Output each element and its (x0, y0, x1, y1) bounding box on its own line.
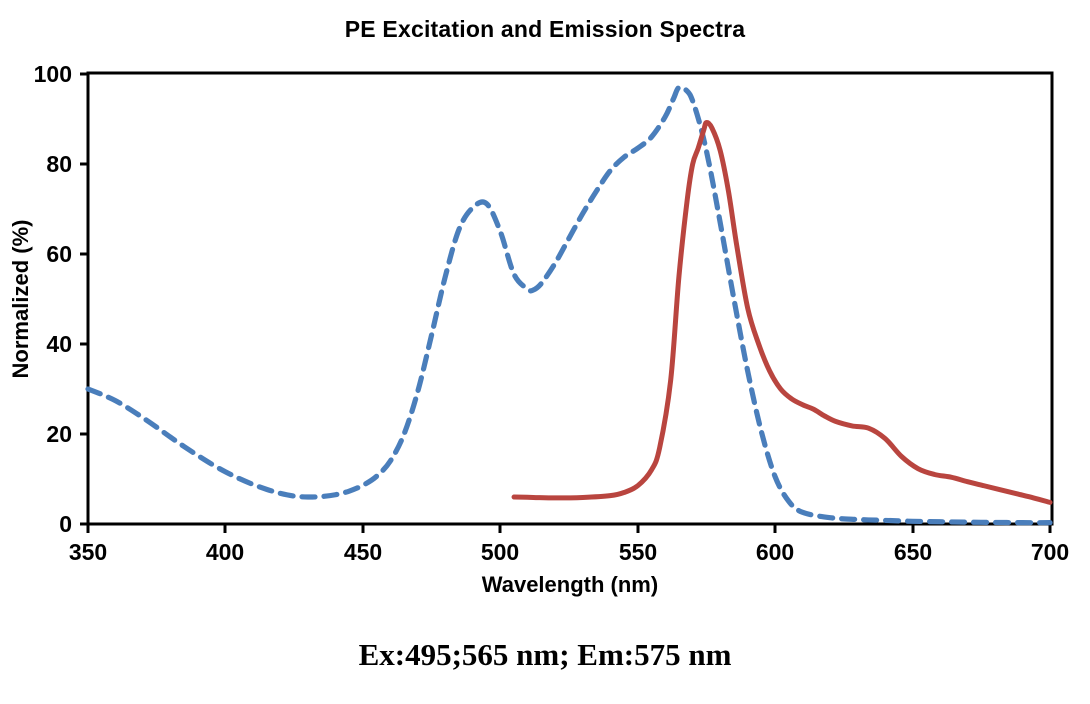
figure-caption: Ex:495;565 nm; Em:575 nm (0, 637, 1090, 673)
y-tick-label: 80 (46, 151, 72, 177)
x-tick-label: 650 (894, 539, 932, 565)
x-axis-title: Wavelength (nm) (482, 572, 658, 597)
y-tick-label: 100 (34, 61, 72, 87)
figure-container: PE Excitation and Emission Spectra 0 20 … (0, 0, 1090, 704)
x-tick-label: 550 (619, 539, 657, 565)
y-axis-tick-labels: 0 20 40 60 80 100 (34, 61, 72, 537)
y-axis-title: Normalized (%) (8, 220, 33, 379)
x-axis-tick-labels: 350 400 450 500 550 600 650 700 (69, 539, 1069, 565)
axis-frame (88, 73, 1052, 524)
y-tick-label: 60 (46, 241, 72, 267)
x-tick-label: 400 (206, 539, 244, 565)
series-line-emission (514, 123, 1050, 503)
x-tick-label: 350 (69, 539, 107, 565)
x-tick-label: 700 (1031, 539, 1069, 565)
y-tick-label: 20 (46, 421, 72, 447)
x-tick-label: 450 (344, 539, 382, 565)
x-tick-label: 500 (481, 539, 519, 565)
plot-area: 0 20 40 60 80 100 Normalized (%) 350 400… (0, 0, 1090, 704)
x-tick-label: 600 (756, 539, 794, 565)
y-tick-label: 0 (59, 511, 72, 537)
y-tick-label: 40 (46, 331, 72, 357)
